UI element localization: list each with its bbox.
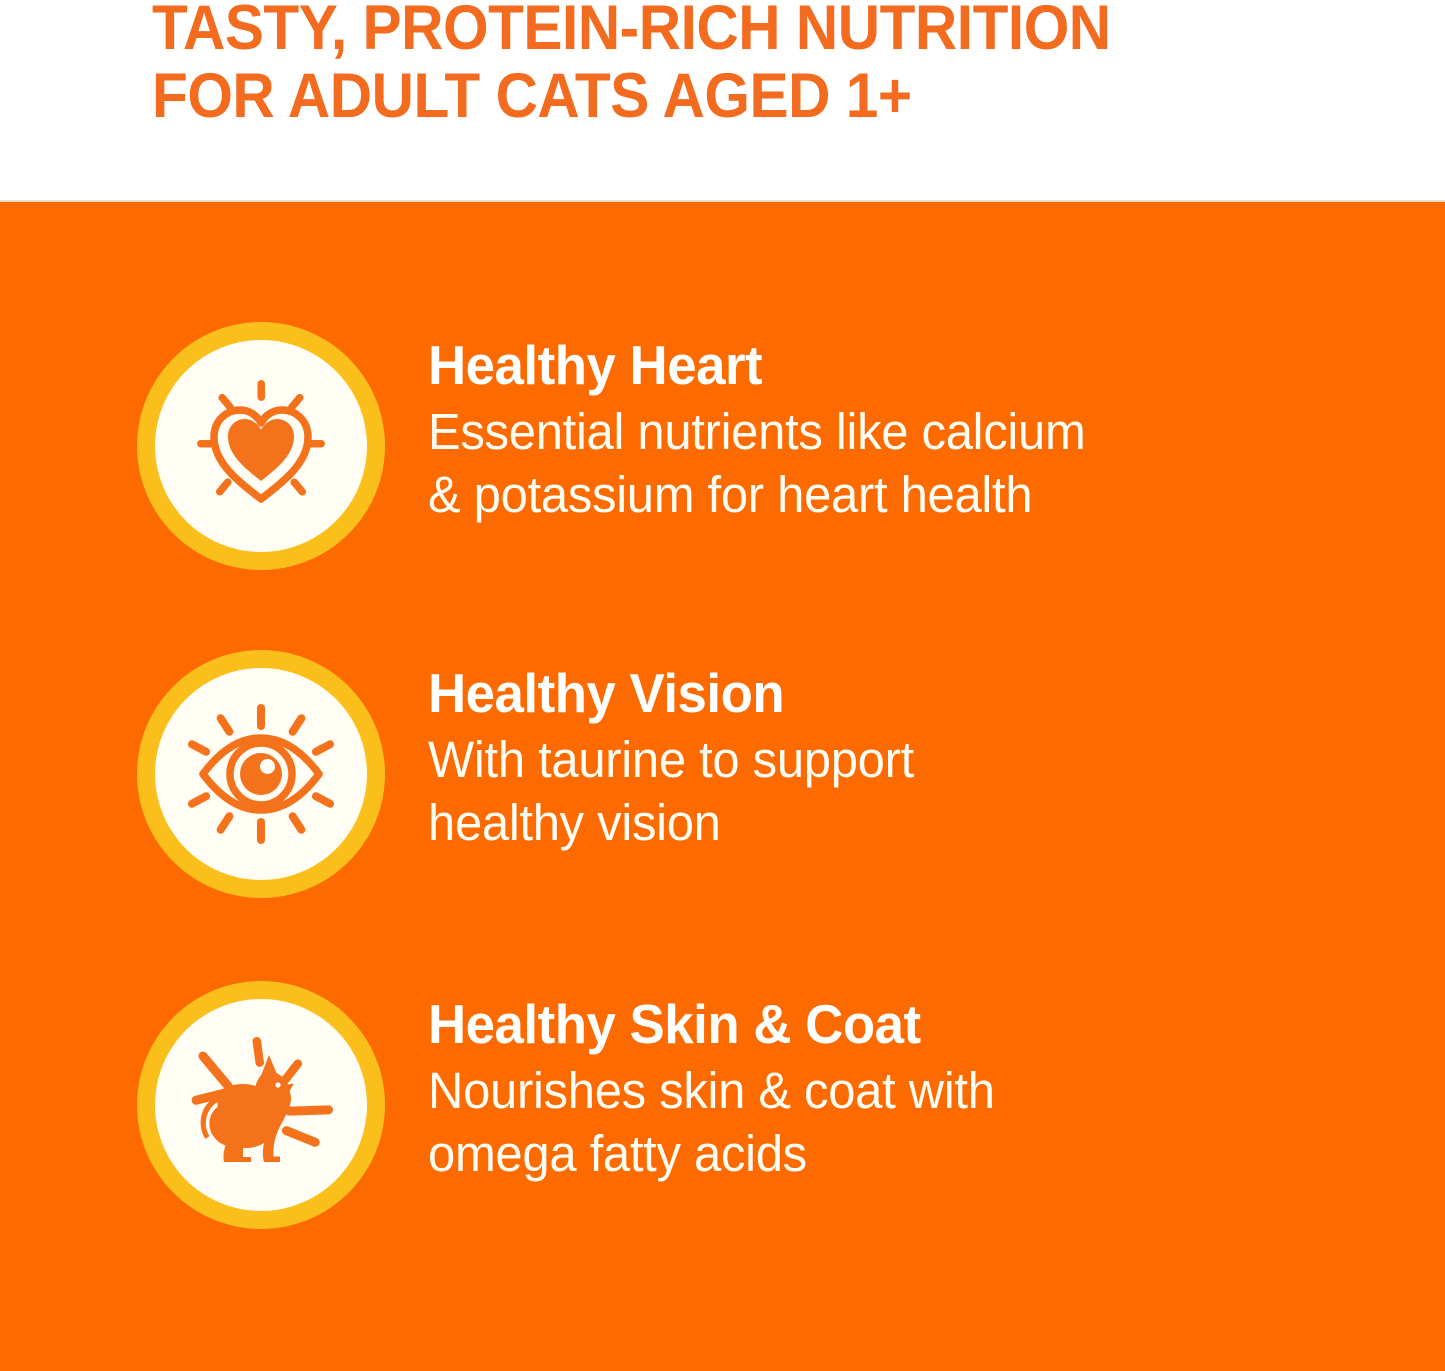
benefit-row: Healthy Skin & Coat Nourishes skin & coa… (0, 981, 1445, 1231)
benefit-title: Healthy Vision (428, 664, 1350, 722)
product-benefits-infographic: TASTY, PROTEIN-RICH NUTRITION FOR ADULT … (0, 0, 1445, 1371)
benefit-description: Nourishes skin & coat with omega fatty a… (428, 1059, 1350, 1185)
benefit-row: Healthy Heart Essential nutrients like c… (0, 322, 1445, 572)
benefit-description: Essential nutrients like calcium & potas… (428, 400, 1350, 526)
page-title: TASTY, PROTEIN-RICH NUTRITION FOR ADULT … (152, 0, 1305, 130)
headline-band: TASTY, PROTEIN-RICH NUTRITION FOR ADULT … (0, 0, 1445, 202)
cat-rays-icon (155, 999, 367, 1211)
benefit-text-block: Healthy Vision With taurine to support h… (428, 664, 1388, 854)
benefit-text-block: Healthy Skin & Coat Nourishes skin & coa… (428, 995, 1388, 1185)
benefit-title: Healthy Skin & Coat (428, 995, 1350, 1053)
benefit-row: Healthy Vision With taurine to support h… (0, 650, 1445, 900)
benefit-icon-badge (137, 650, 385, 898)
benefit-icon-badge (137, 322, 385, 570)
benefit-title: Healthy Heart (428, 336, 1350, 394)
heart-rays-icon (155, 340, 367, 552)
benefit-text-block: Healthy Heart Essential nutrients like c… (428, 336, 1388, 526)
eye-rays-icon (155, 668, 367, 880)
benefit-description: With taurine to support healthy vision (428, 728, 1350, 854)
benefit-icon-badge (137, 981, 385, 1229)
